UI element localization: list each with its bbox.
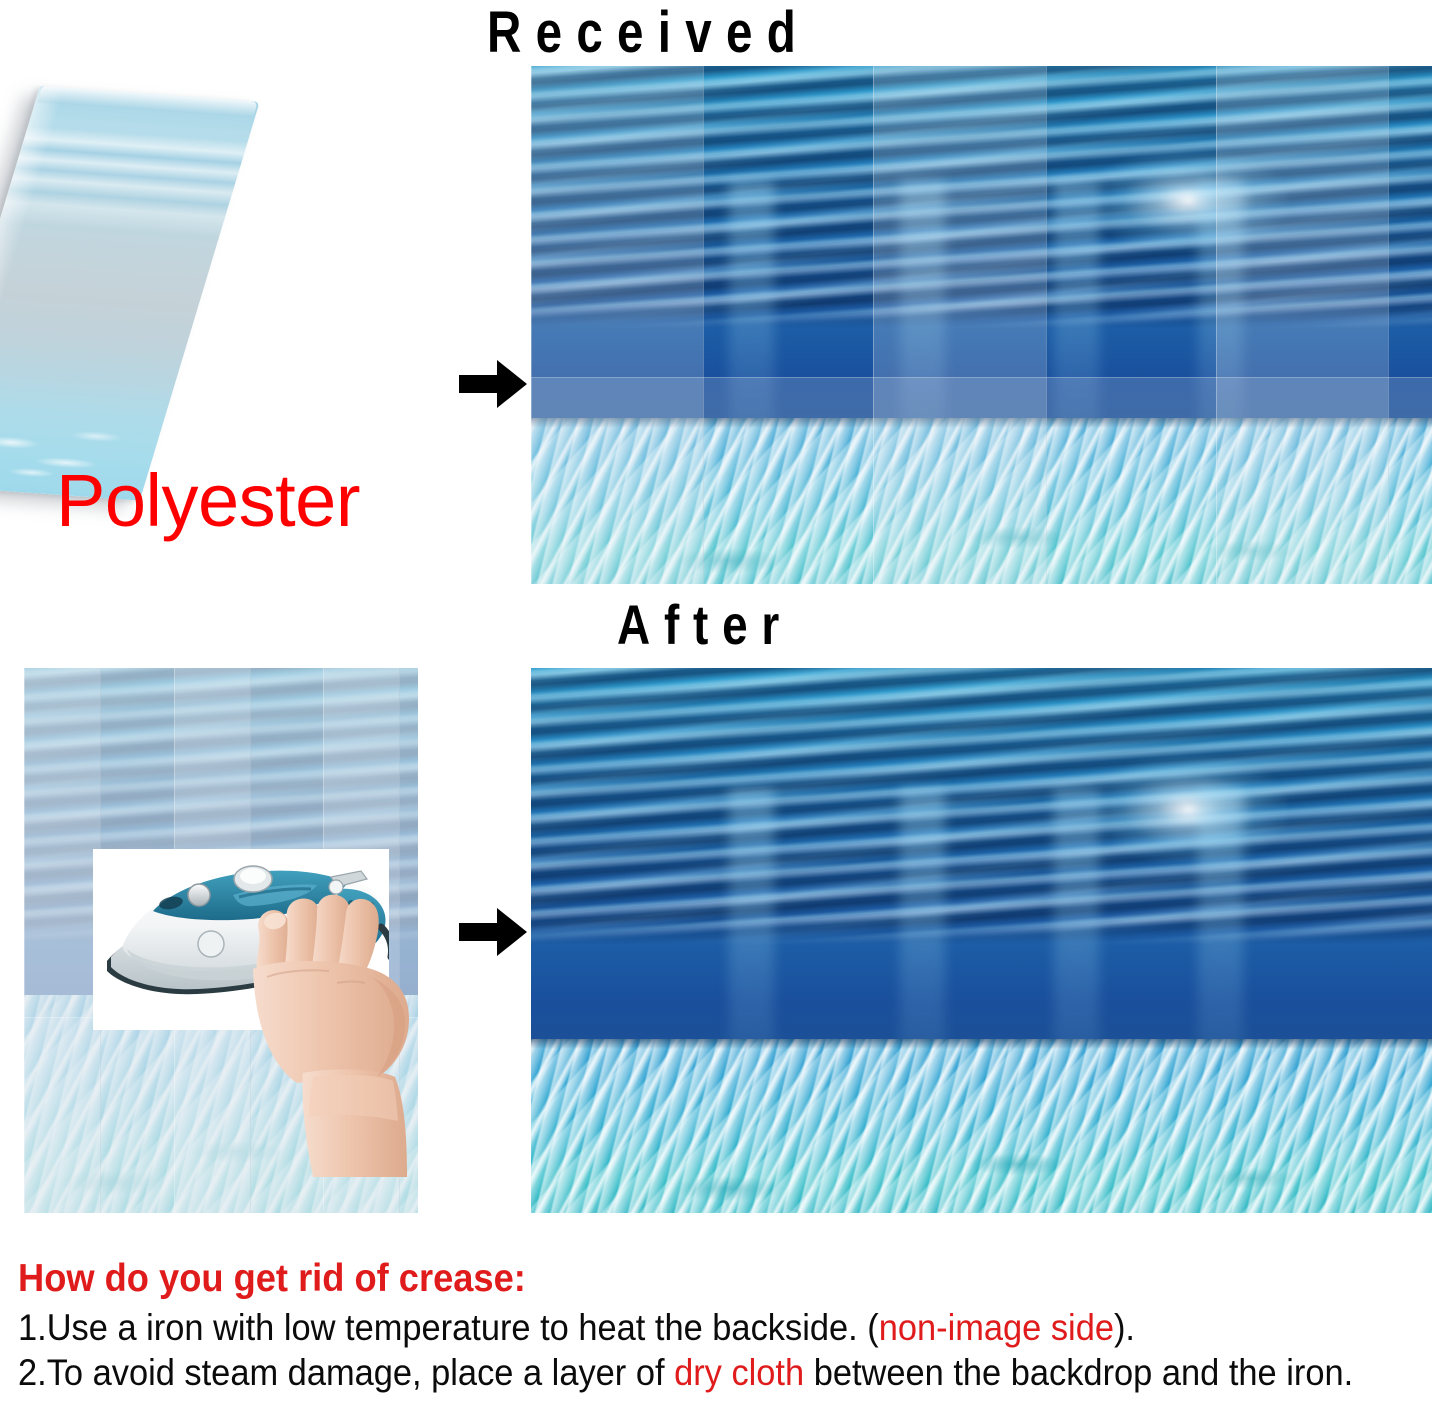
- water-surface-layer: [531, 66, 1432, 341]
- seabed-layer: [531, 418, 1432, 584]
- instructions-heading: How do you get rid of crease:: [18, 1256, 1329, 1302]
- polyester-swatch-image: [14, 78, 414, 498]
- water-surface-layer: [531, 668, 1432, 957]
- after-backdrop-photo: [531, 668, 1432, 1213]
- instruction-step-1: 1.Use a iron with low temperature to hea…: [18, 1306, 1329, 1350]
- sun-glint: [1090, 755, 1288, 864]
- arrow-right-icon: [457, 904, 529, 960]
- arrow-right-icon: [457, 356, 529, 412]
- polyester-label: Polyester: [56, 462, 360, 540]
- step-2-lead: 2.To avoid steam damage, place a layer o…: [18, 1352, 674, 1393]
- sun-glint: [1090, 149, 1288, 253]
- received-backdrop-photo: [531, 66, 1432, 584]
- horizon-shadow: [531, 418, 1432, 428]
- step-1-tail: ).: [1114, 1307, 1135, 1348]
- step-2-tail: between the backdrop and the iron.: [804, 1352, 1353, 1393]
- hand-icon: [243, 877, 443, 1177]
- step-2-highlight: dry cloth: [674, 1352, 804, 1393]
- instructions-block: How do you get rid of crease: 1.Use a ir…: [18, 1256, 1428, 1395]
- after-heading: After: [617, 595, 793, 655]
- seabed-layer: [531, 1039, 1432, 1213]
- received-heading: Received: [487, 2, 810, 64]
- step-1-highlight: non-image side: [879, 1307, 1114, 1348]
- instruction-step-2: 2.To avoid steam damage, place a layer o…: [18, 1351, 1329, 1395]
- iron-photo-inset: [93, 849, 389, 1030]
- fabric-swatch: [0, 86, 260, 501]
- horizon-shadow: [531, 1039, 1432, 1049]
- step-1-lead: 1.Use a iron with low temperature to hea…: [18, 1307, 879, 1348]
